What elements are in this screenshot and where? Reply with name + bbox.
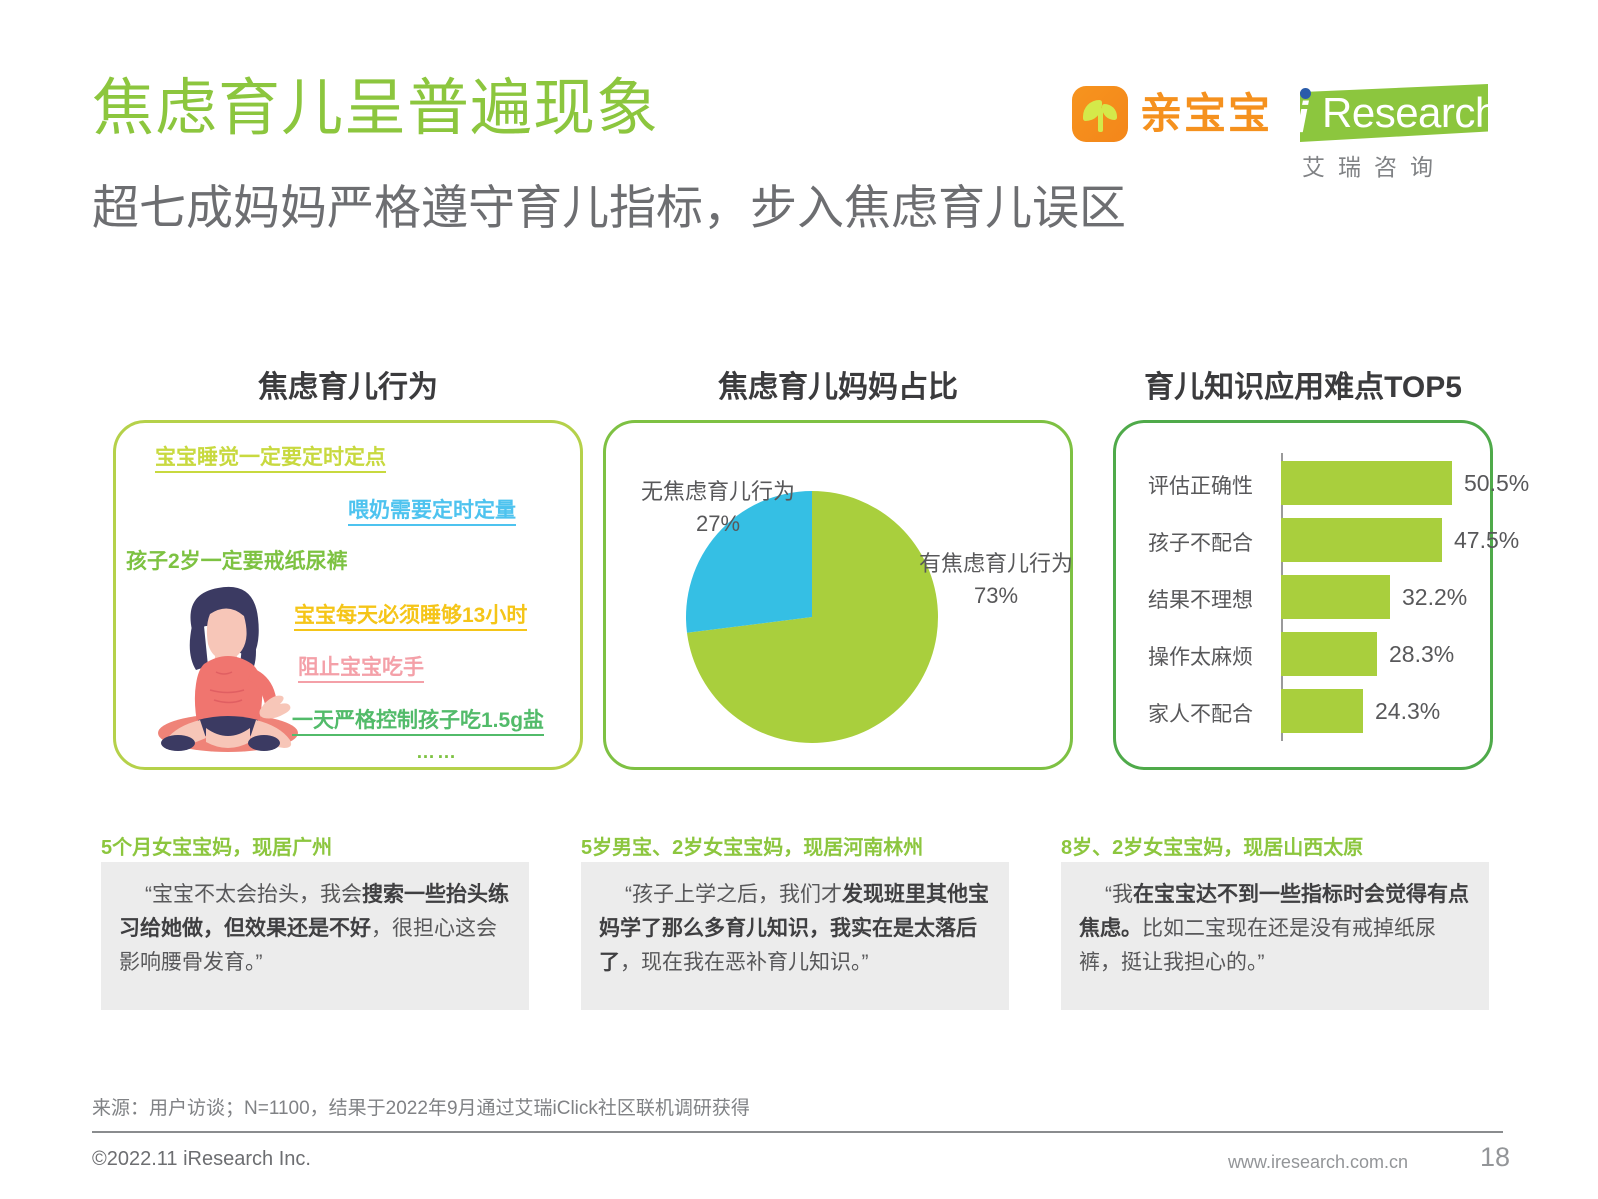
quote-plain: “我	[1105, 883, 1133, 906]
bar-row: 结果不理想32.2%	[1148, 575, 1478, 619]
behavior-line-4: 宝宝每天必须睡够13小时	[294, 605, 527, 631]
sprout-icon	[1072, 86, 1128, 142]
bar-row: 孩子不配合47.5%	[1148, 518, 1478, 562]
bar-category-label: 结果不理想	[1148, 584, 1268, 614]
quote-text-1: “宝宝不太会抬头，我会搜索一些抬头练习给她做，但效果还是不好，很担心这会影响腰骨…	[119, 878, 511, 980]
column-heading-bars: 育儿知识应用难点TOP5	[1113, 362, 1493, 406]
behavior-ellipsis: ……	[416, 743, 458, 762]
iresearch-wordmark: Research	[1322, 92, 1498, 134]
bar-value-label: 24.3%	[1375, 698, 1440, 725]
quote-box-2: “孩子上学之后，我们才发现班里其他宝妈学了那么多育儿知识，我实在是太落后了，现在…	[581, 862, 1009, 1010]
bar-rect	[1281, 518, 1442, 562]
seated-woman-illustration	[148, 578, 308, 753]
panel-anxious-mothers-share: 无焦虑育儿行为 27% 有焦虑育儿行为 73%	[603, 420, 1073, 770]
behavior-line-3: 孩子2岁一定要戒纸尿裤	[126, 551, 348, 572]
pie-label-has-anxiety: 有焦虑育儿行为 73%	[906, 548, 1086, 612]
bar-rect	[1281, 461, 1452, 505]
quote-plain: ，现在我在恶补育儿知识。”	[620, 951, 869, 974]
partner-logo: 亲宝宝	[1072, 86, 1272, 142]
quote-title-1: 5个月女宝宝妈，现居广州	[101, 838, 332, 858]
website-link[interactable]: www.iresearch.com.cn	[1228, 1152, 1408, 1173]
pie-label-no-anxiety-text: 无焦虑育儿行为	[641, 479, 795, 504]
copyright-text: ©2022.11 iResearch Inc.	[92, 1148, 311, 1171]
pie-label-no-anxiety-value: 27%	[696, 511, 740, 536]
pie-label-has-anxiety-value: 73%	[974, 583, 1018, 608]
iresearch-logo: i Research 艾瑞咨询	[1288, 82, 1488, 178]
bar-category-label: 操作太麻烦	[1148, 641, 1268, 671]
bar-rect	[1281, 575, 1390, 619]
bar-rect	[1281, 632, 1377, 676]
column-heading-behaviors: 焦虑育儿行为	[113, 362, 583, 406]
bar-value-label: 47.5%	[1454, 527, 1519, 554]
behavior-line-6: 一天严格控制孩子吃1.5g盐	[292, 710, 544, 736]
panel-knowledge-difficulties: 评估正确性50.5%孩子不配合47.5%结果不理想32.2%操作太麻烦28.3%…	[1113, 420, 1493, 770]
quote-box-1: “宝宝不太会抬头，我会搜索一些抬头练习给她做，但效果还是不好，很担心这会影响腰骨…	[101, 862, 529, 1010]
bar-row: 家人不配合24.3%	[1148, 689, 1478, 733]
page-title: 焦虑育儿呈普遍现象	[92, 78, 659, 140]
pie-label-no-anxiety: 无焦虑育儿行为 27%	[634, 476, 802, 540]
page-subtitle: 超七成妈妈严格遵守育儿指标，步入焦虑育儿误区	[92, 184, 1126, 231]
bar-value-label: 28.3%	[1389, 641, 1454, 668]
bar-value-label: 32.2%	[1402, 584, 1467, 611]
bar-category-label: 家人不配合	[1148, 698, 1268, 728]
panel-anxious-behaviors: 宝宝睡觉一定要定时定点 喂奶需要定时定量 孩子2岁一定要戒纸尿裤 宝宝每天必须睡…	[113, 420, 583, 770]
quote-text-3: “我在宝宝达不到一些指标时会觉得有点焦虑。比如二宝现在还是没有戒掉纸尿裤，挺让我…	[1079, 878, 1471, 980]
bar-row: 操作太麻烦28.3%	[1148, 632, 1478, 676]
slide-root: 焦虑育儿呈普遍现象 超七成妈妈严格遵守育儿指标，步入焦虑育儿误区 亲宝宝 i R…	[0, 0, 1598, 1199]
quote-plain: “宝宝不太会抬头，我会	[145, 883, 362, 906]
quote-title-2: 5岁男宝、2岁女宝宝妈，现居河南林州	[581, 838, 923, 858]
quote-title-3: 8岁、2岁女宝宝妈，现居山西太原	[1061, 838, 1363, 858]
bar-category-label: 孩子不配合	[1148, 527, 1268, 557]
quote-text-2: “孩子上学之后，我们才发现班里其他宝妈学了那么多育儿知识，我实在是太落后了，现在…	[599, 878, 991, 980]
partner-logo-text: 亲宝宝	[1140, 93, 1272, 135]
bar-rect	[1281, 689, 1363, 733]
source-note: 来源：用户访谈；N=1100，结果于2022年9月通过艾瑞iClick社区联机调…	[92, 1093, 750, 1120]
page-number: 18	[1480, 1142, 1510, 1173]
behavior-line-1: 宝宝睡觉一定要定时定点	[155, 447, 386, 473]
pie-label-has-anxiety-text: 有焦虑育儿行为	[919, 551, 1073, 576]
iresearch-i: i	[1296, 96, 1308, 140]
behavior-line-5: 阻止宝宝吃手	[298, 657, 424, 683]
behavior-line-2: 喂奶需要定时定量	[348, 500, 516, 526]
iresearch-chinese-name: 艾瑞咨询	[1302, 148, 1446, 182]
footer-divider	[92, 1131, 1503, 1133]
column-heading-pie: 焦虑育儿妈妈占比	[603, 362, 1073, 406]
quote-plain: “孩子上学之后，我们才	[625, 883, 842, 906]
bar-value-label: 50.5%	[1464, 470, 1529, 497]
sprout-leaf-right	[1102, 104, 1117, 120]
bar-row: 评估正确性50.5%	[1148, 461, 1478, 505]
bar-category-label: 评估正确性	[1148, 470, 1268, 500]
quote-box-3: “我在宝宝达不到一些指标时会觉得有点焦虑。比如二宝现在还是没有戒掉纸尿裤，挺让我…	[1061, 862, 1489, 1010]
